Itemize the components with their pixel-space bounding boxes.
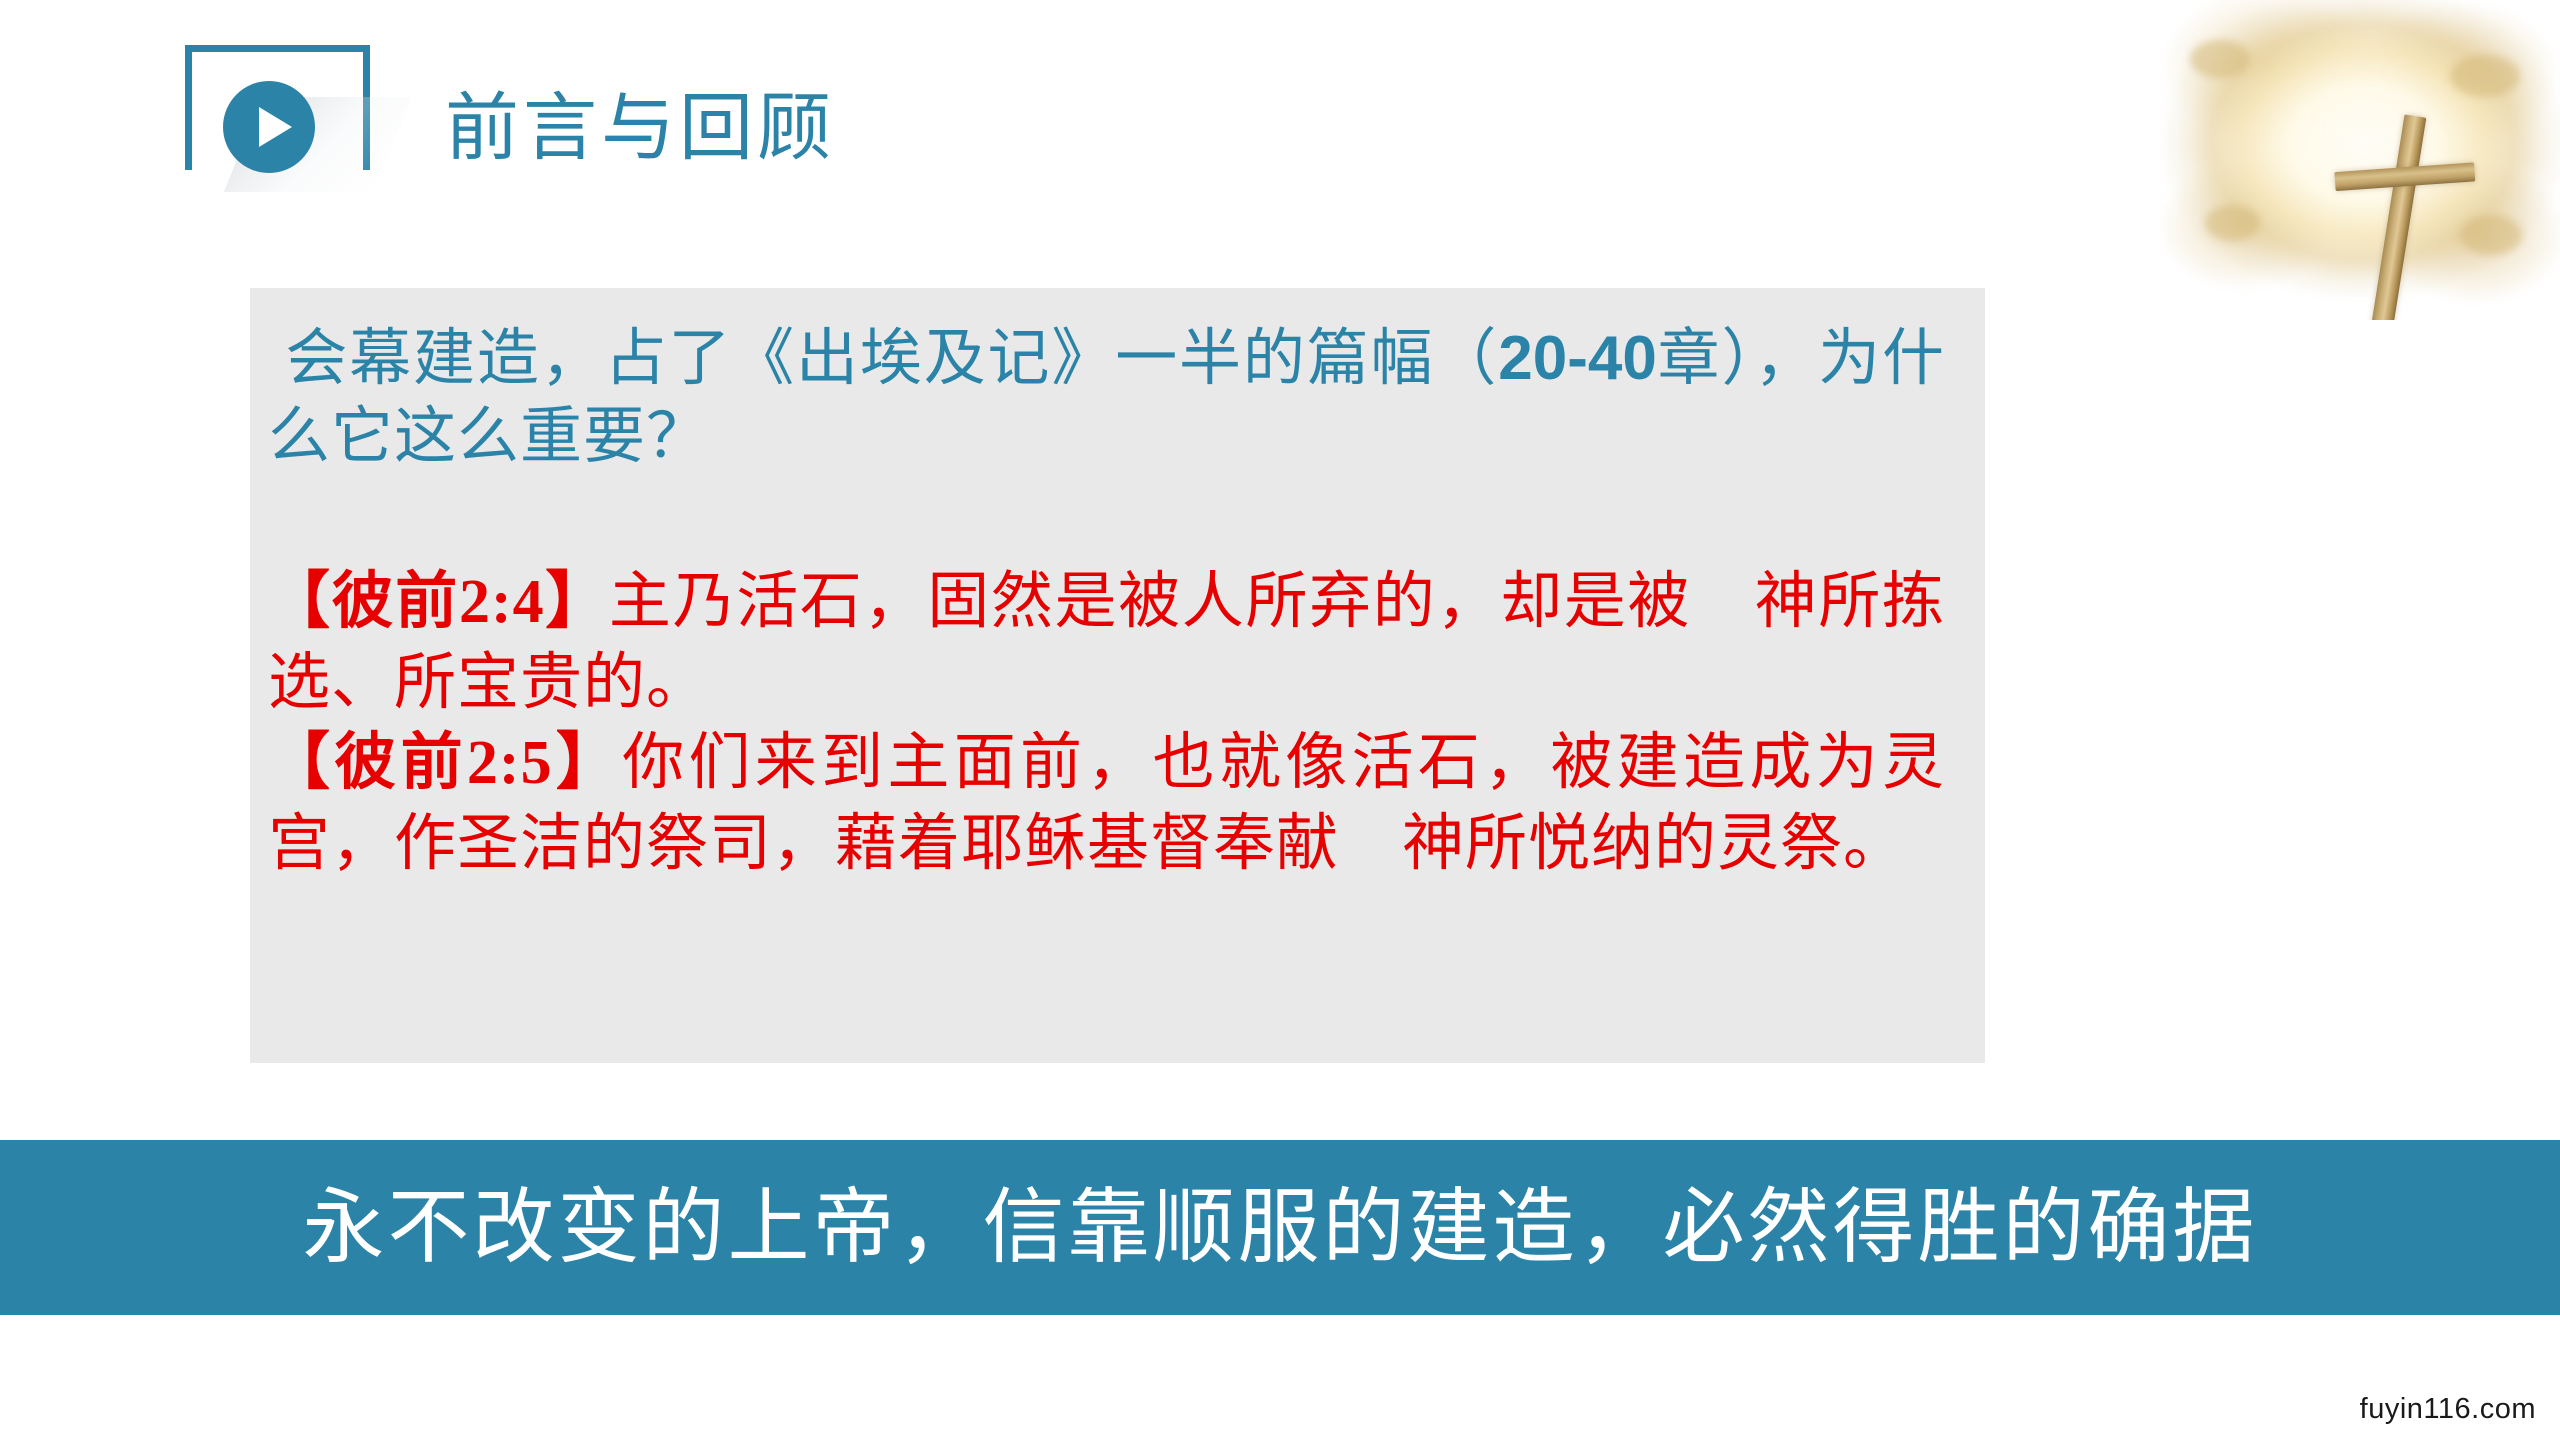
page-title: 前言与回顾 — [445, 92, 835, 166]
cloud-fleck — [2460, 215, 2522, 255]
bottom-banner-text: 永不改变的上帝，信靠顺服的建造，必然得胜的确据 — [302, 1187, 2257, 1269]
chapter-range-emphasis: 20-40 — [1498, 324, 1657, 393]
slide-header: 前言与回顾 — [0, 0, 2560, 180]
paragraph-spacer — [268, 476, 1945, 562]
verse-reference-1: 【彼前2:4】 — [268, 568, 609, 636]
play-circle-icon — [223, 81, 315, 173]
play-triangle-icon — [259, 107, 292, 147]
verse-reference-2: 【彼前2:5】 — [268, 729, 622, 797]
play-button-icon — [185, 45, 375, 180]
content-panel: 会幕建造，占了《出埃及记》一半的篇幅（20-40章），为什么它这么重要？ 【彼前… — [250, 288, 1985, 1063]
intro-question-paragraph: 会幕建造，占了《出埃及记》一半的篇幅（20-40章），为什么它这么重要？ — [268, 320, 1945, 476]
cloud-fleck — [2205, 205, 2260, 241]
bottom-banner: 永不改变的上帝，信靠顺服的建造，必然得胜的确据 — [0, 1140, 2560, 1315]
intro-text-before: 会幕建造，占了《出埃及记》一半的篇幅（ — [268, 325, 1498, 393]
verse-paragraph-1: 【彼前2:4】主乃活石，固然是被人所弃的，却是被 神所拣选、所宝贵的。 — [268, 562, 1945, 723]
footer-watermark: fuyin116.com — [2360, 1393, 2536, 1426]
verse-paragraph-2: 【彼前2:5】你们来到主面前，也就像活石，被建造成为灵宫，作圣洁的祭司，藉着耶稣… — [268, 723, 1945, 884]
